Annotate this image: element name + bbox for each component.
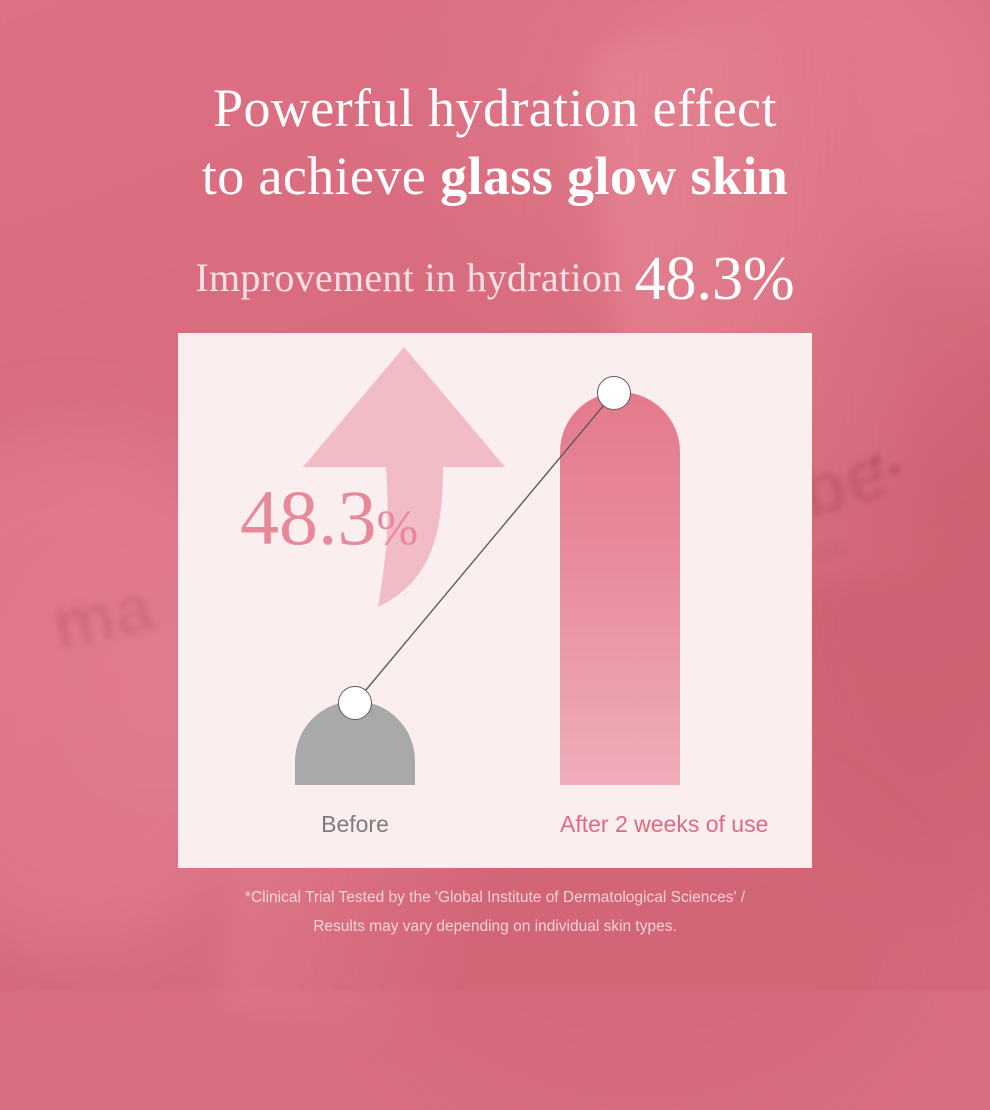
backdrop-ghost-text-bars: ||| xyxy=(57,593,95,633)
data-point-marker-after xyxy=(597,376,631,410)
footnote-line-2: Results may vary depending on individual… xyxy=(0,913,990,942)
subheadline: Improvement in hydration48.3% xyxy=(0,236,990,307)
headline-line-1: Powerful hydration effect xyxy=(0,78,990,140)
headline: Powerful hydration effect to achieve gla… xyxy=(0,78,990,207)
subheadline-value: 48.3% xyxy=(634,245,794,313)
subheadline-label: Improvement in hydration xyxy=(195,255,622,300)
trend-connector-line xyxy=(178,333,812,868)
headline-line-2: to achieve glass glow skin xyxy=(0,146,990,208)
chart-card: 48.3% Before After 2 weeks of use xyxy=(178,333,812,868)
footnote: *Clinical Trial Tested by the 'Global In… xyxy=(0,884,990,941)
data-point-marker-before xyxy=(338,686,372,720)
axis-label-after: After 2 weeks of use xyxy=(560,811,680,838)
headline-line-2-normal: to achieve xyxy=(202,146,440,206)
footnote-line-1: *Clinical Trial Tested by the 'Global In… xyxy=(0,884,990,913)
axis-label-before: Before xyxy=(295,811,415,838)
headline-line-2-bold: glass glow skin xyxy=(440,146,788,206)
axis-label-after-text: After 2 weeks of use xyxy=(560,811,768,838)
